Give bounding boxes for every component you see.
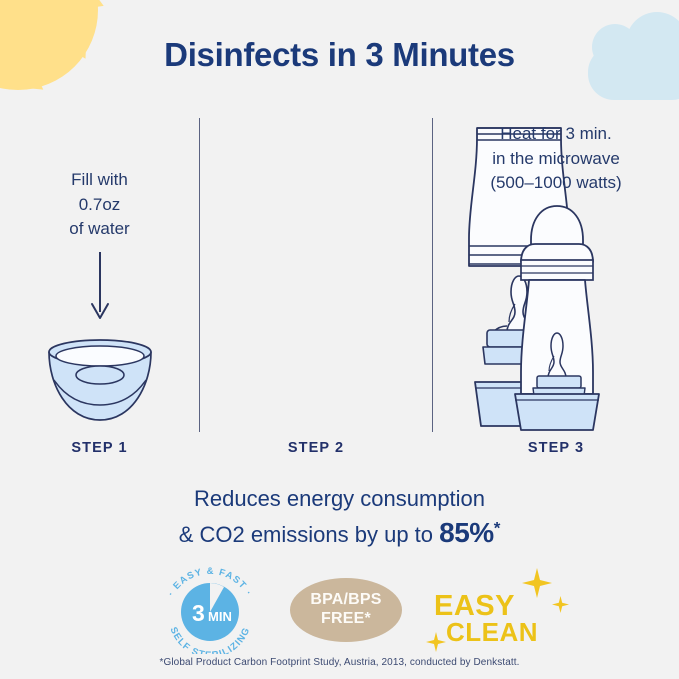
energy-claim: Reduces energy consumption & CO2 emissio… <box>0 484 679 551</box>
easy-clean-badge: EASY CLEAN <box>432 572 572 652</box>
bpa-bps-free-badge: BPA/BPS FREE* <box>290 578 402 642</box>
step-3-instruction-line: (500–1000 watts) <box>433 171 679 196</box>
assembled-bottle-icon <box>501 196 613 436</box>
easy-clean-line-2: CLEAN <box>446 617 538 648</box>
claim-line-1: Reduces energy consumption <box>0 484 679 514</box>
step-3-instruction-line: Heat for 3 min. <box>433 122 679 147</box>
bpa-line-2: FREE* <box>321 610 371 629</box>
step-1-instruction: Fill with 0.7oz of water <box>0 118 199 242</box>
page-title: Disinfects in 3 Minutes <box>0 36 679 74</box>
step-2-label: STEP 2 <box>200 440 432 456</box>
footnote: *Global Product Carbon Footprint Study, … <box>0 657 679 668</box>
claim-asterisk: * <box>494 518 501 537</box>
badge-row: 3 MIN · EASY & FAST · SELF STERILIZING B… <box>0 566 679 654</box>
claim-prefix: & CO2 emissions by up to <box>179 522 439 547</box>
step-1-column: Fill with 0.7oz of water <box>0 118 199 434</box>
sparkle-icon <box>426 632 446 652</box>
step-1-label: STEP 1 <box>0 440 199 456</box>
step-3-instruction-line: in the microwave <box>433 147 679 172</box>
step-1-instruction-line: Fill with <box>0 168 199 193</box>
badge-minutes-number: 3 <box>192 600 205 626</box>
claim-percentage: 85% <box>439 517 494 548</box>
badge-minutes-unit: MIN <box>208 609 232 624</box>
step-3-column: Heat for 3 min. in the microwave (500–10… <box>433 118 679 434</box>
infographic-canvas: Disinfects in 3 Minutes Fill with 0.7oz … <box>0 0 679 679</box>
step-3-label: STEP 3 <box>433 440 679 456</box>
step-1-instruction-line: 0.7oz <box>0 193 199 218</box>
step-2-column <box>200 118 432 434</box>
step-1-instruction-line: of water <box>0 217 199 242</box>
sparkle-icon <box>522 568 552 598</box>
sparkle-icon <box>552 596 569 613</box>
step-3-instruction: Heat for 3 min. in the microwave (500–10… <box>433 118 679 196</box>
down-arrow-icon <box>88 252 112 322</box>
claim-line-2: & CO2 emissions by up to 85%* <box>0 514 679 552</box>
3min-self-sterilizing-badge: 3 MIN · EASY & FAST · SELF STERILIZING <box>156 566 264 654</box>
water-bowl-icon <box>45 338 155 428</box>
bpa-line-1: BPA/BPS <box>310 591 381 610</box>
